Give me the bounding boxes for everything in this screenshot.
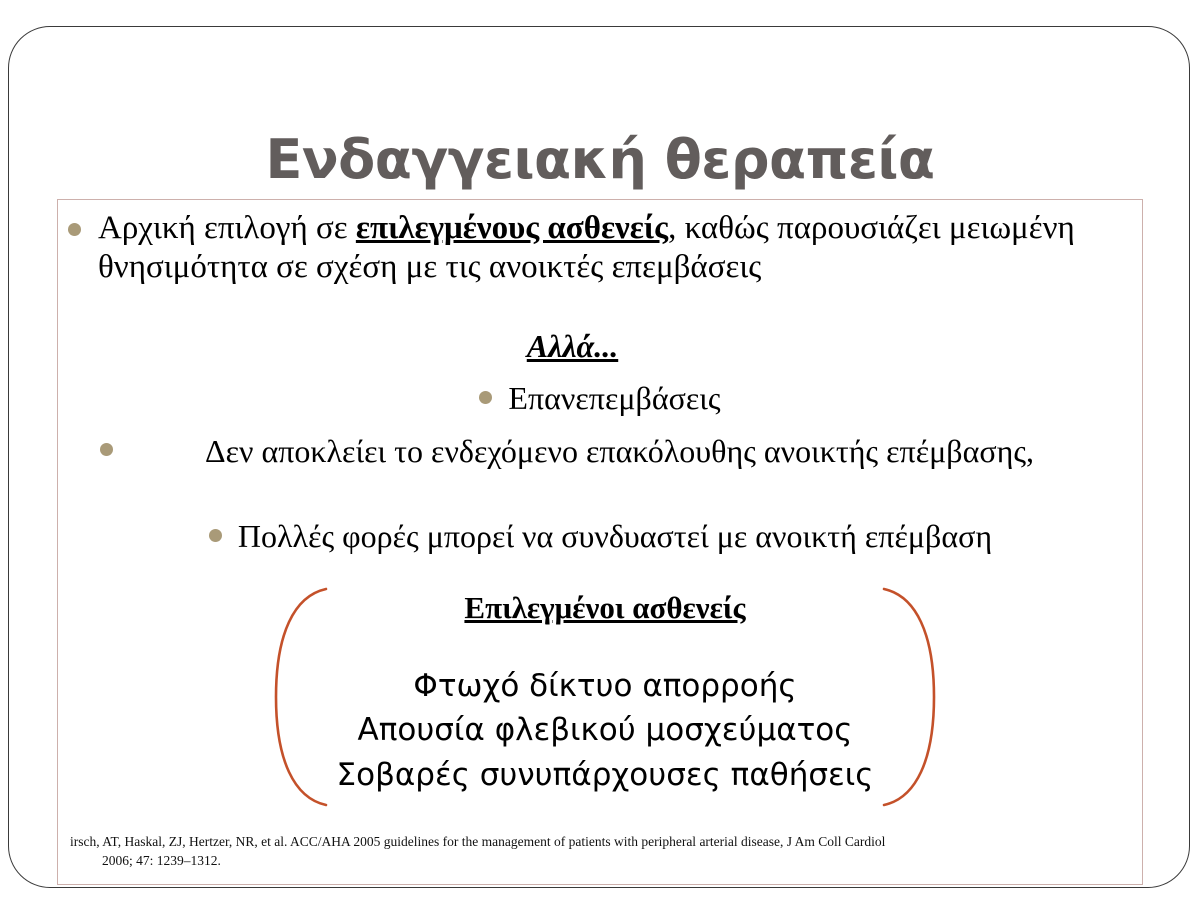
bullet-item-subsequent-open-surgery: Δεν αποκλείει το ενδεχόμενο επακόλουθης … [100,432,1110,470]
bullet-item-combined-open-surgery: Πολλές φορές μπορεί να συνδυαστεί με ανο… [68,518,1133,555]
bullet-item-subsequent-open-surgery-text: Δεν αποκλείει το ενδεχόμενο επακόλουθης … [129,432,1110,470]
citation-line-2: 2006; 47: 1239–1312. [70,851,1115,870]
bullet-item-combined-open-surgery-text: Πολλές φορές μπορεί να συνδυαστεί με ανο… [238,518,992,555]
transition-label: Αλλά... [0,328,1145,365]
slide: Ενδαγγειακή θεραπεία Αρχική επιλογή σε ε… [0,0,1200,900]
callout-criterion: Φτωχό δίκτυο απορροής [270,664,940,708]
callout-heading: Επιλεγμένοι ασθενείς [270,590,940,626]
callout-criterion: Απουσία φλεβικού μοσχεύματος [270,708,940,752]
callout-criteria-list: Φτωχό δίκτυο απορροής Απουσία φλεβικού μ… [270,664,940,797]
bullet-dot-icon [68,223,81,236]
bullet-item-reinterventions-text: Επανεπεμβάσεις [508,380,720,417]
bullet-item-reinterventions: Επανεπεμβάσεις [0,380,1200,417]
bullet-item-lead-text: Αρχική επιλογή σε επιλεγμένους ασθενείς,… [98,209,1078,287]
callout-selected-patients: Επιλεγμένοι ασθενείς Φτωχό δίκτυο απορρο… [270,586,940,808]
bullet-item-lead: Αρχική επιλογή σε επιλεγμένους ασθενείς,… [68,209,1078,287]
citation-footnote: irsch, AT, Haskal, ZJ, Hertzer, NR, et a… [70,832,1115,870]
page-title: Ενδαγγειακή θεραπεία [0,132,1200,189]
lead-text-emphasis: επιλεγμένους ασθενείς [356,210,668,246]
bullet-dot-icon [209,529,222,542]
callout-criterion: Σοβαρές συνυπάρχουσες παθήσεις [270,753,940,797]
bullet-dot-icon [479,391,492,404]
lead-text-part1: Αρχική επιλογή σε [98,210,356,246]
citation-line-1: irsch, AT, Haskal, ZJ, Hertzer, NR, et a… [70,834,885,849]
bullet-dot-icon [100,443,113,456]
